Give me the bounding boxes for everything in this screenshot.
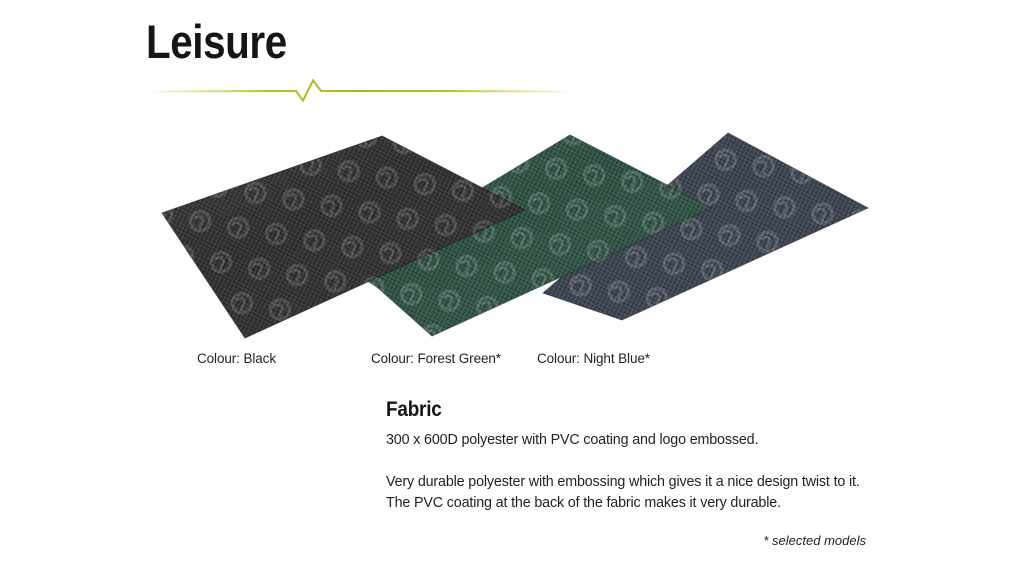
colour-caption-black: Colour: Black [197, 351, 276, 366]
fabric-description-text: Very durable polyester with embossing wh… [386, 472, 886, 513]
colour-caption-night-blue: Colour: Night Blue* [537, 351, 650, 366]
footnote-selected-models: * selected models [763, 533, 866, 548]
zigzag-rule-path [152, 81, 568, 101]
fabric-heading: Fabric [386, 398, 836, 421]
page-title: Leisure [146, 18, 287, 65]
zigzag-divider [150, 78, 570, 108]
fabric-info-block: Fabric 300 x 600D polyester with PVC coa… [386, 398, 886, 513]
fabric-spec-text: 300 x 600D polyester with PVC coating an… [386, 430, 886, 450]
colour-caption-forest-green: Colour: Forest Green* [371, 351, 501, 366]
